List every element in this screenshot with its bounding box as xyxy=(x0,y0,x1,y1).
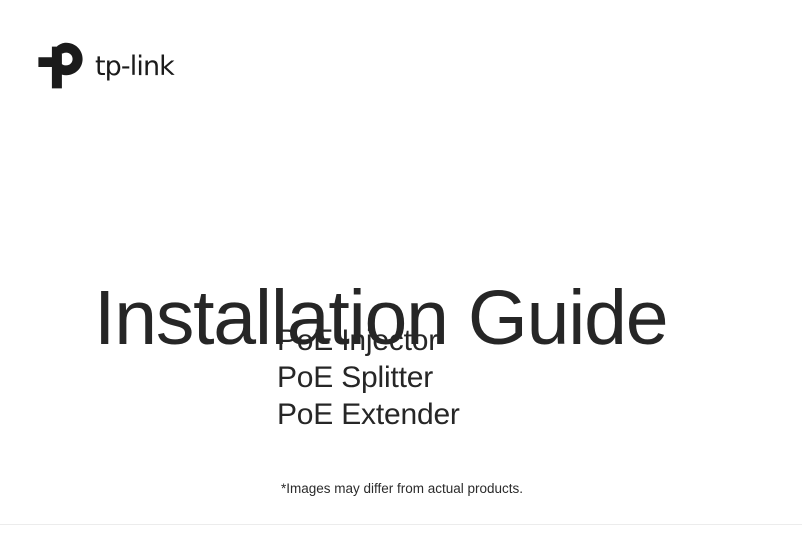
product-list-item-splitter: PoE Splitter xyxy=(277,359,460,396)
footnote-text: *Images may differ from actual products. xyxy=(281,480,523,498)
tp-link-logo-icon xyxy=(36,42,86,89)
product-list-item-injector: PoE Injector xyxy=(277,322,460,359)
product-list-item-extender: PoE Extender xyxy=(277,396,460,433)
tp-link-wordmark: tp-link xyxy=(95,53,174,80)
page-bottom-divider xyxy=(0,524,802,525)
installation-guide-cover-page: tp-link Installation Guide PoE Injector … xyxy=(0,0,802,533)
footnote: *Images may differ from actual products. xyxy=(0,480,802,498)
tp-link-brand-logo: tp-link xyxy=(36,42,174,89)
product-list: PoE Injector PoE Splitter PoE Extender xyxy=(277,322,460,433)
